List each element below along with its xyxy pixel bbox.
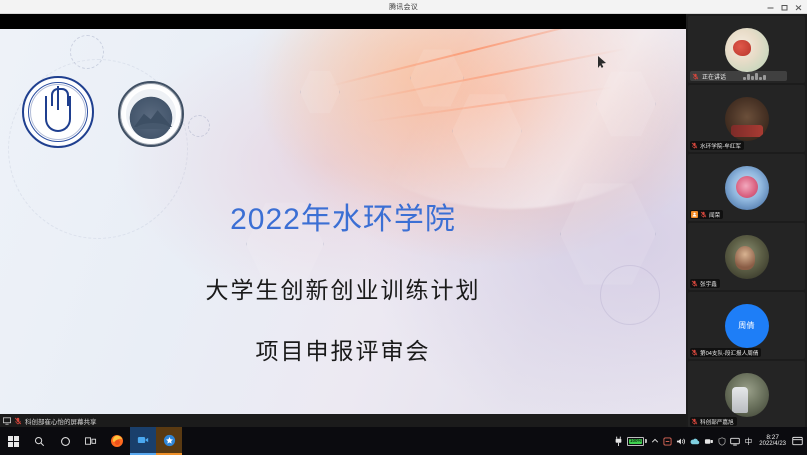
participant-label: 第04支队-段汇报人周倩 bbox=[690, 348, 761, 357]
restore-icon[interactable] bbox=[777, 1, 791, 14]
network-icon[interactable] bbox=[663, 437, 672, 446]
participant-tile[interactable]: 张宇鑫 bbox=[688, 223, 805, 290]
microphone-muted-icon bbox=[691, 349, 698, 356]
search-icon bbox=[34, 436, 45, 447]
onedrive-icon[interactable] bbox=[690, 437, 700, 446]
participant-name: 科创部严嘉旭 bbox=[700, 418, 734, 426]
minimize-icon[interactable] bbox=[763, 1, 777, 14]
task-view-icon bbox=[85, 436, 97, 447]
microphone-muted-icon bbox=[691, 418, 698, 425]
ime-indicator[interactable]: 中 bbox=[744, 436, 754, 447]
slide-subtitle-2: 项目申报评审会 bbox=[0, 332, 686, 366]
monitor-icon bbox=[3, 417, 11, 425]
tencent-meeting-window: 腾讯会议 bbox=[0, 0, 807, 455]
participant-label: 张宇鑫 bbox=[690, 279, 720, 288]
share-status-text: 科创部崔心怡的屏幕共享 bbox=[25, 416, 97, 426]
notification-icon[interactable] bbox=[792, 436, 803, 447]
search-button[interactable] bbox=[26, 427, 52, 455]
window-title: 腾讯会议 bbox=[389, 2, 418, 12]
windows-taskbar: 100% bbox=[0, 427, 807, 455]
participant-tile[interactable]: 科创部严嘉旭 bbox=[688, 361, 805, 427]
participant-label: 科创部严嘉旭 bbox=[690, 417, 737, 426]
microphone-muted-icon bbox=[691, 280, 698, 287]
avatar bbox=[725, 166, 769, 210]
participant-name: 张宇鑫 bbox=[700, 280, 717, 288]
speaking-indicator: 正在讲话 bbox=[690, 71, 787, 81]
participant-label: 水环学院-牟红军 bbox=[690, 141, 744, 150]
participant-tile[interactable]: 水环学院-牟红军 bbox=[688, 85, 805, 152]
chevron-up-icon[interactable] bbox=[651, 437, 659, 445]
shared-screen-stage[interactable]: 2022年水环学院 大学生创新创业训练计划 项目申报评审会 科创部崔心怡的屏幕共… bbox=[0, 14, 686, 427]
screen-share-status-bar: 科创部崔心怡的屏幕共享 bbox=[0, 414, 686, 427]
audio-wave-icon bbox=[743, 73, 766, 80]
microphone-muted-icon bbox=[692, 73, 699, 80]
shield-icon[interactable] bbox=[718, 437, 726, 446]
avatar: 周倩 bbox=[725, 304, 769, 348]
firefox-icon bbox=[110, 434, 124, 448]
participant-name: 正在讲话 bbox=[702, 72, 726, 81]
microphone-muted-icon bbox=[14, 417, 22, 425]
cortana-button[interactable] bbox=[52, 427, 78, 455]
circle-icon bbox=[60, 436, 71, 447]
windows-icon bbox=[8, 436, 19, 447]
changan-university-logo bbox=[22, 76, 94, 148]
participant-name: 水环学院-牟红军 bbox=[700, 142, 741, 150]
clock-date: 2022/4/23 bbox=[759, 441, 786, 448]
host-badge-icon bbox=[691, 211, 698, 218]
light-swoosh bbox=[300, 29, 686, 209]
display-icon[interactable] bbox=[730, 437, 740, 446]
avatar bbox=[725, 235, 769, 279]
power-plug-icon[interactable] bbox=[614, 436, 623, 447]
avatar bbox=[725, 373, 769, 417]
participant-tile[interactable]: 闻荣 bbox=[688, 154, 805, 221]
avatar bbox=[725, 97, 769, 141]
window-controls bbox=[763, 0, 805, 14]
participant-tile[interactable]: 正在讲话 bbox=[688, 16, 805, 83]
app-star-icon bbox=[163, 434, 176, 447]
tencent-meeting-button[interactable] bbox=[130, 427, 156, 455]
participant-label: 闻荣 bbox=[690, 210, 723, 219]
close-icon[interactable] bbox=[791, 1, 805, 14]
clock[interactable]: 8:27 2022/4/23 bbox=[757, 434, 788, 448]
bluetooth-icon[interactable] bbox=[704, 437, 714, 446]
taskbar-apps bbox=[0, 427, 182, 455]
participant-sidebar[interactable]: 正在讲话 水环学院-牟红军 bbox=[686, 14, 807, 427]
presentation-slide: 2022年水环学院 大学生创新创业训练计划 项目申报评审会 bbox=[0, 29, 686, 414]
participant-name: 第04支队-段汇报人周倩 bbox=[700, 349, 758, 357]
participant-name: 闻荣 bbox=[709, 211, 720, 219]
volume-icon[interactable] bbox=[676, 437, 686, 446]
task-view-button[interactable] bbox=[78, 427, 104, 455]
avatar bbox=[725, 28, 769, 72]
app-button[interactable] bbox=[156, 427, 182, 455]
battery-percent: 100% bbox=[630, 439, 642, 444]
microphone-muted-icon bbox=[691, 142, 698, 149]
system-tray: 100% bbox=[614, 427, 807, 455]
meeting-icon bbox=[137, 434, 149, 446]
avatar-initials: 周倩 bbox=[738, 320, 755, 331]
slide-title: 2022年水环学院 bbox=[0, 194, 686, 238]
start-button[interactable] bbox=[0, 427, 26, 455]
participant-tile[interactable]: 周倩 第04支队-段汇报人周倩 bbox=[688, 292, 805, 359]
battery-icon[interactable]: 100% bbox=[627, 437, 647, 446]
water-environment-school-logo bbox=[118, 81, 184, 147]
microphone-muted-icon bbox=[700, 211, 707, 218]
window-titlebar: 腾讯会议 bbox=[0, 0, 807, 14]
slide-subtitle-1: 大学生创新创业训练计划 bbox=[0, 271, 686, 305]
gear-ring-decoration bbox=[188, 115, 210, 137]
firefox-button[interactable] bbox=[104, 427, 130, 455]
clock-time: 8:27 bbox=[766, 434, 779, 441]
